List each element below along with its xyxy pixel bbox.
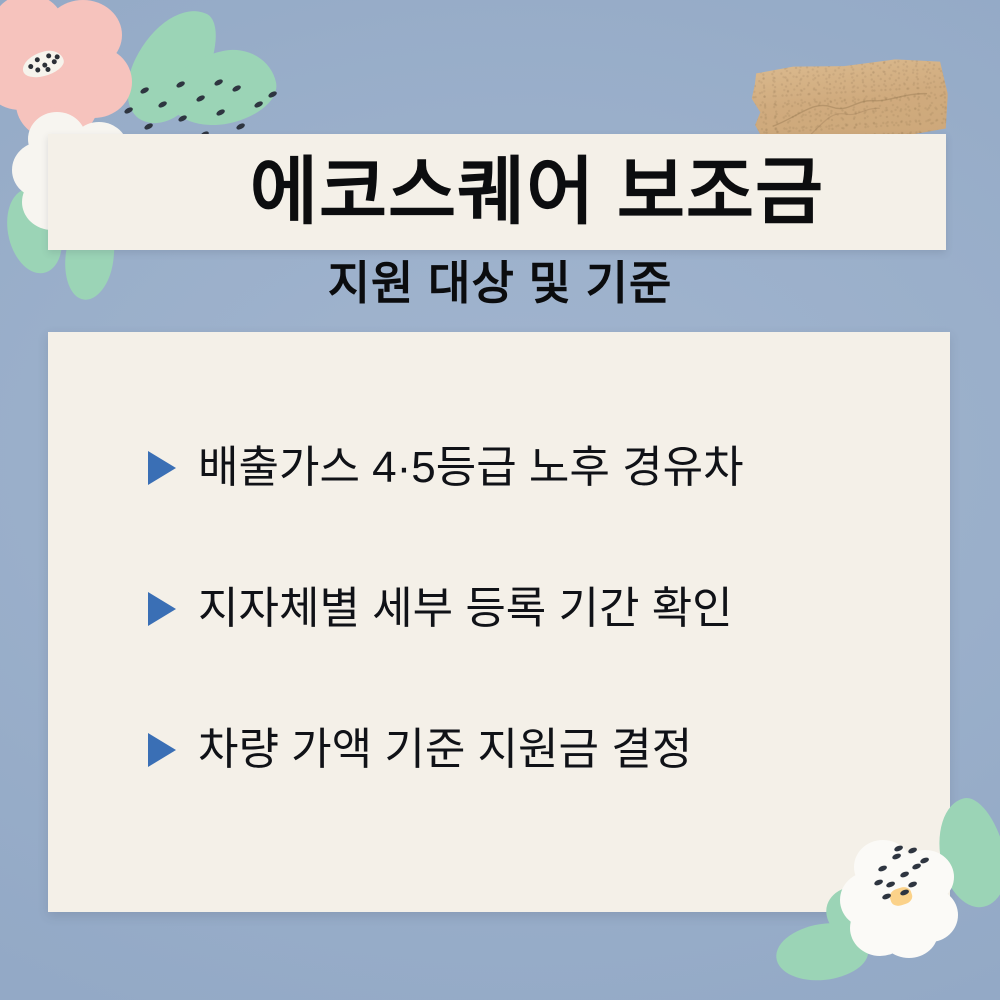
triangle-right-icon — [148, 451, 176, 485]
page-title: 에코스퀘어 보조금 — [170, 155, 824, 229]
content-card: 배출가스 4·5등급 노후 경유차 지자체별 세부 등록 기간 확인 차량 가액… — [48, 332, 950, 912]
triangle-right-icon — [148, 592, 176, 626]
speckle-cluster-icon — [848, 840, 948, 912]
page-subtitle: 지원 대상 및 기준 — [0, 258, 1000, 309]
list-item-label: 배출가스 4·5등급 노후 경유차 — [198, 440, 744, 495]
list-item: 배출가스 4·5등급 노후 경유차 — [148, 440, 908, 495]
list-item-label: 지자체별 세부 등록 기간 확인 — [198, 581, 733, 636]
triangle-right-icon — [148, 733, 176, 767]
poster-canvas: 에코스퀘어 보조금 지원 대상 및 기준 배출가스 4·5등급 노후 경유차 지… — [0, 0, 1000, 1000]
bullet-list: 배출가스 4·5등급 노후 경유차 지자체별 세부 등록 기간 확인 차량 가액… — [148, 440, 908, 777]
list-item: 지자체별 세부 등록 기간 확인 — [148, 581, 908, 636]
list-item-label: 차량 가액 기준 지원금 결정 — [198, 722, 692, 777]
kraft-tape-icon — [750, 57, 950, 146]
title-banner: 에코스퀘어 보조금 — [48, 134, 946, 250]
list-item: 차량 가액 기준 지원금 결정 — [148, 722, 908, 777]
